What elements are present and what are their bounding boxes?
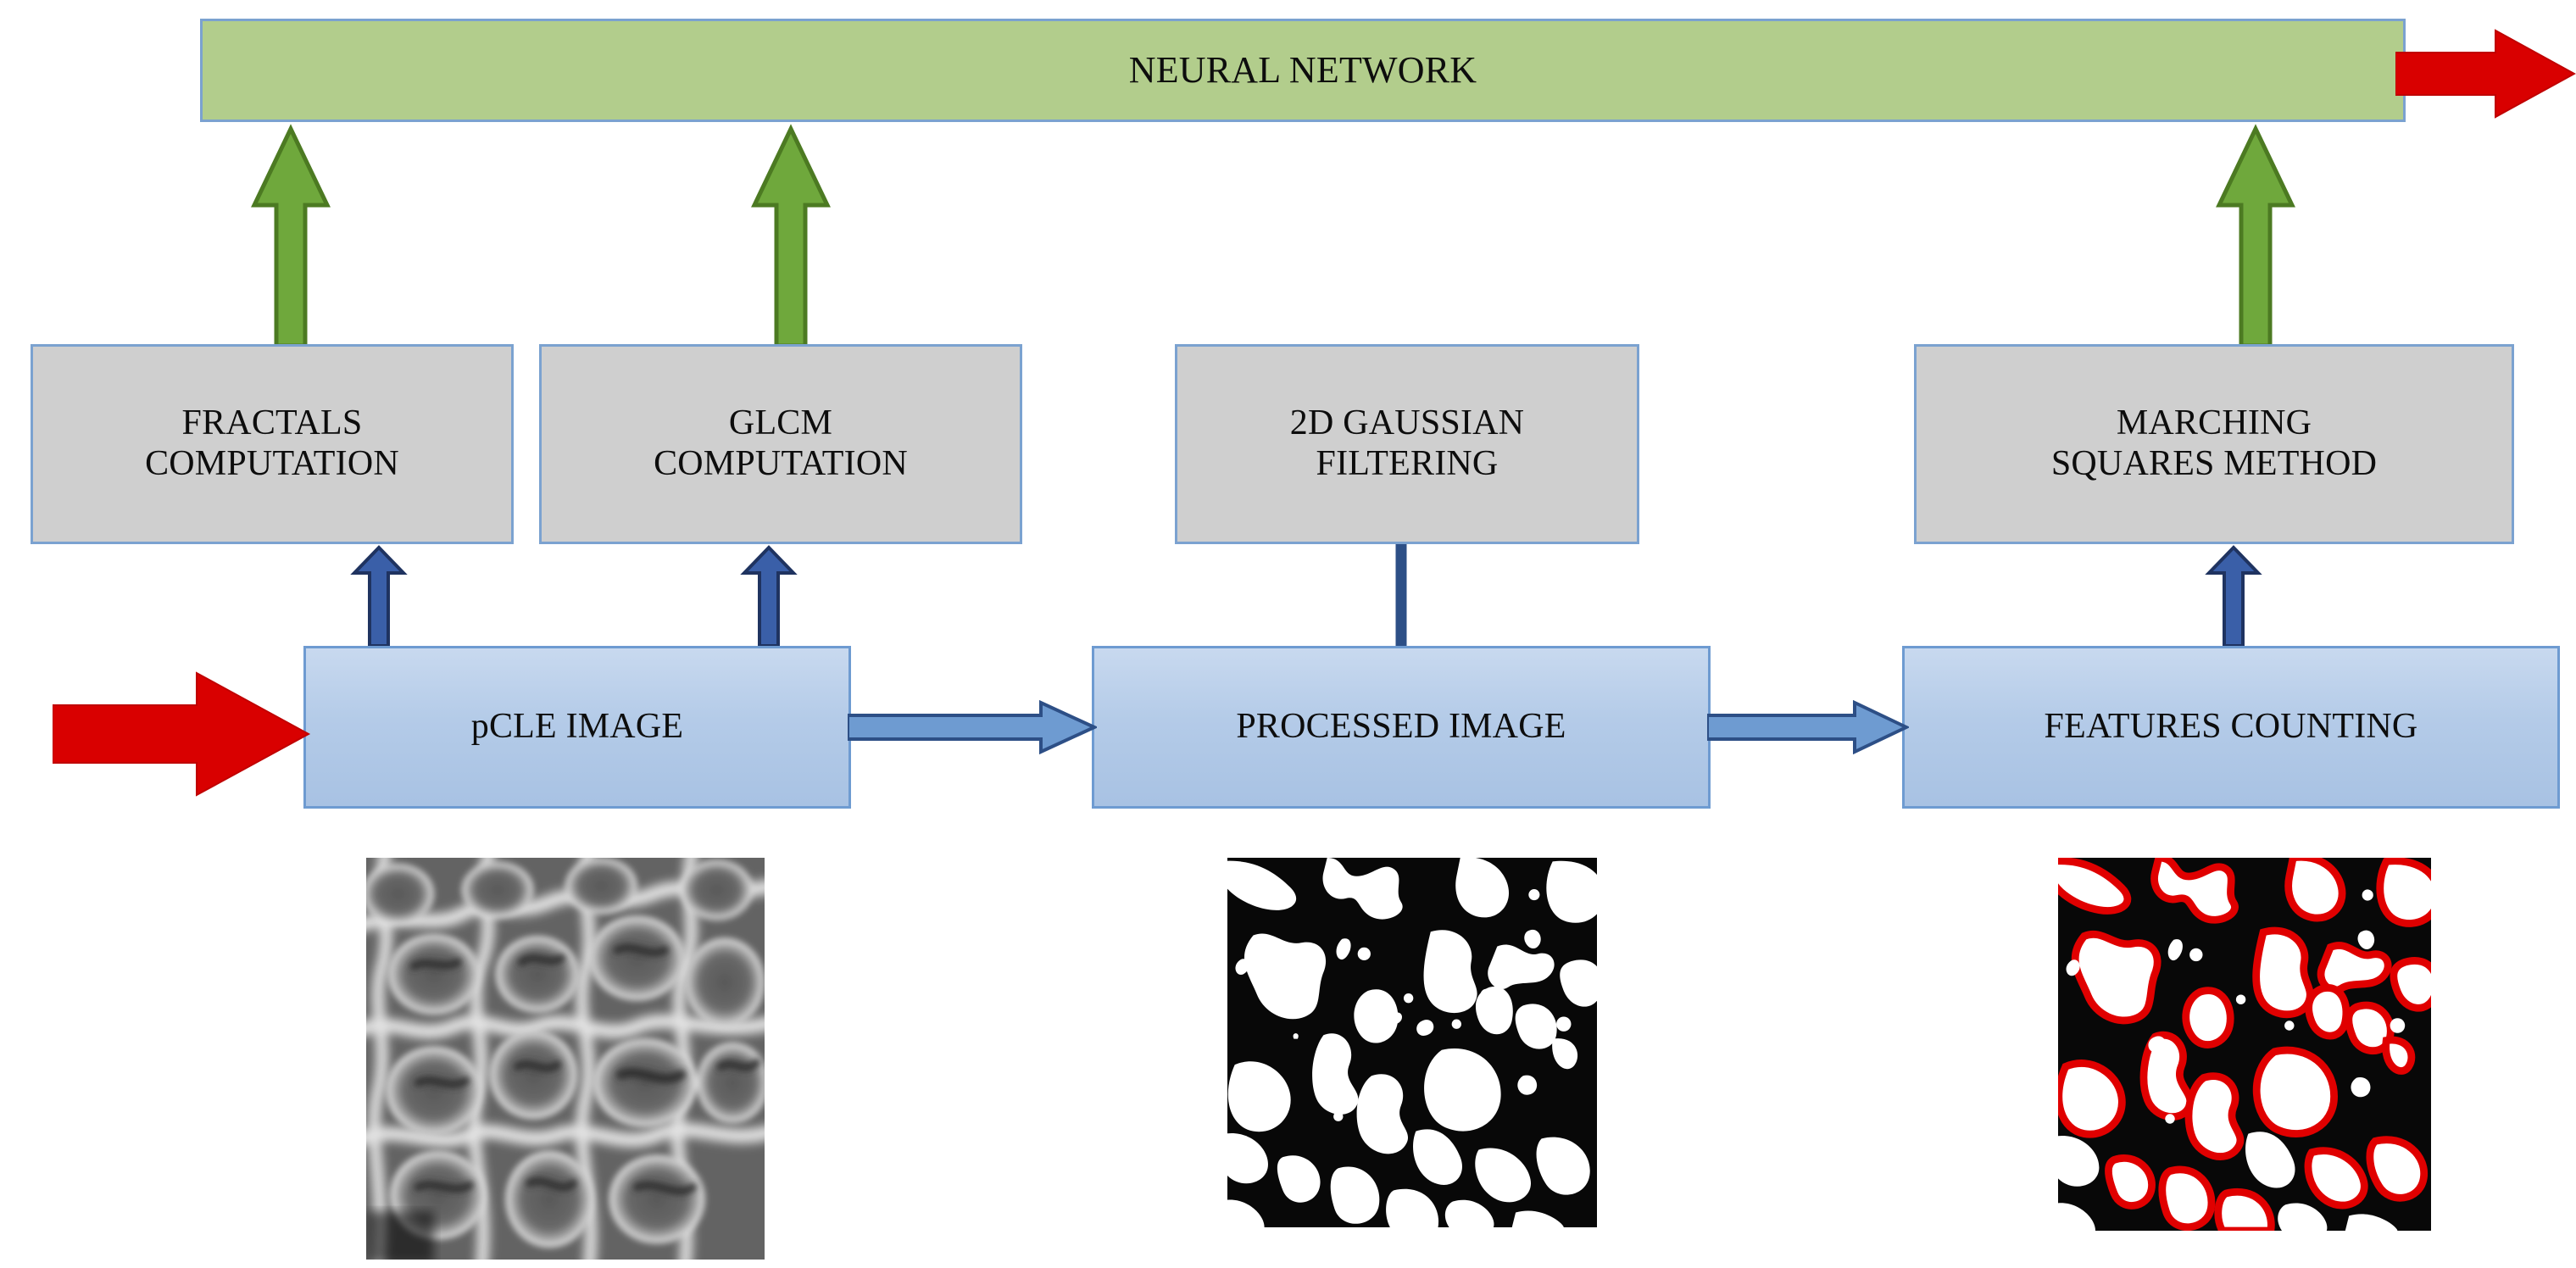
- node-neural-network-label: NEURAL NETWORK: [203, 49, 2403, 92]
- edge-nn-output-red-arrow: [2395, 29, 2576, 119]
- node-features-counting[interactable]: FEATURES COUNTING: [1902, 646, 2560, 809]
- node-fractals-computation-label: FRACTALSCOMPUTATION: [33, 403, 511, 485]
- pcle-raw-thumbnail: [366, 858, 765, 1260]
- diagram-canvas: NEURAL NETWORK FRACTALSCOMPUTATION GLCMC…: [0, 0, 2576, 1268]
- node-marching-squares-method[interactable]: MARCHINGSQUARES METHOD: [1914, 344, 2514, 544]
- node-glcm-computation-label: GLCMCOMPUTATION: [542, 403, 1020, 485]
- edge-input-into-pcle-red-arrow: [53, 670, 312, 798]
- edge-pcle-to-glcm-blue-arrow: [739, 544, 798, 648]
- node-processed-image[interactable]: PROCESSED IMAGE: [1092, 646, 1711, 809]
- edge-pcle-to-fractals-blue-arrow: [349, 544, 409, 648]
- node-2d-gaussian-filtering-label: 2D GAUSSIANFILTERING: [1177, 403, 1637, 485]
- edge-processed-to-features-flow-arrow: [1707, 700, 1909, 754]
- edge-pcle-to-processed-flow-arrow: [848, 700, 1097, 754]
- node-pcle-image[interactable]: pCLE IMAGE: [303, 646, 851, 809]
- node-pcle-image-label: pCLE IMAGE: [306, 707, 848, 748]
- node-processed-image-label: PROCESSED IMAGE: [1094, 707, 1708, 748]
- processed-binary-thumbnail: [1227, 858, 1597, 1227]
- node-glcm-computation[interactable]: GLCMCOMPUTATION: [539, 344, 1022, 544]
- edge-glcm-to-nn-green-arrow: [746, 124, 836, 348]
- node-features-counting-label: FEATURES COUNTING: [1905, 707, 2557, 748]
- edge-fractals-to-nn-green-arrow: [246, 124, 336, 348]
- edge-gaussian-to-processed-connector: [1390, 544, 1412, 649]
- contoured-thumbnail: [2058, 858, 2431, 1231]
- node-fractals-computation[interactable]: FRACTALSCOMPUTATION: [31, 344, 514, 544]
- edge-marching-to-nn-green-arrow: [2211, 124, 2301, 348]
- node-marching-squares-method-label: MARCHINGSQUARES METHOD: [1917, 403, 2512, 485]
- node-2d-gaussian-filtering[interactable]: 2D GAUSSIANFILTERING: [1175, 344, 1639, 544]
- node-neural-network[interactable]: NEURAL NETWORK: [200, 19, 2406, 122]
- edge-features-to-marching-blue-arrow: [2204, 544, 2263, 648]
